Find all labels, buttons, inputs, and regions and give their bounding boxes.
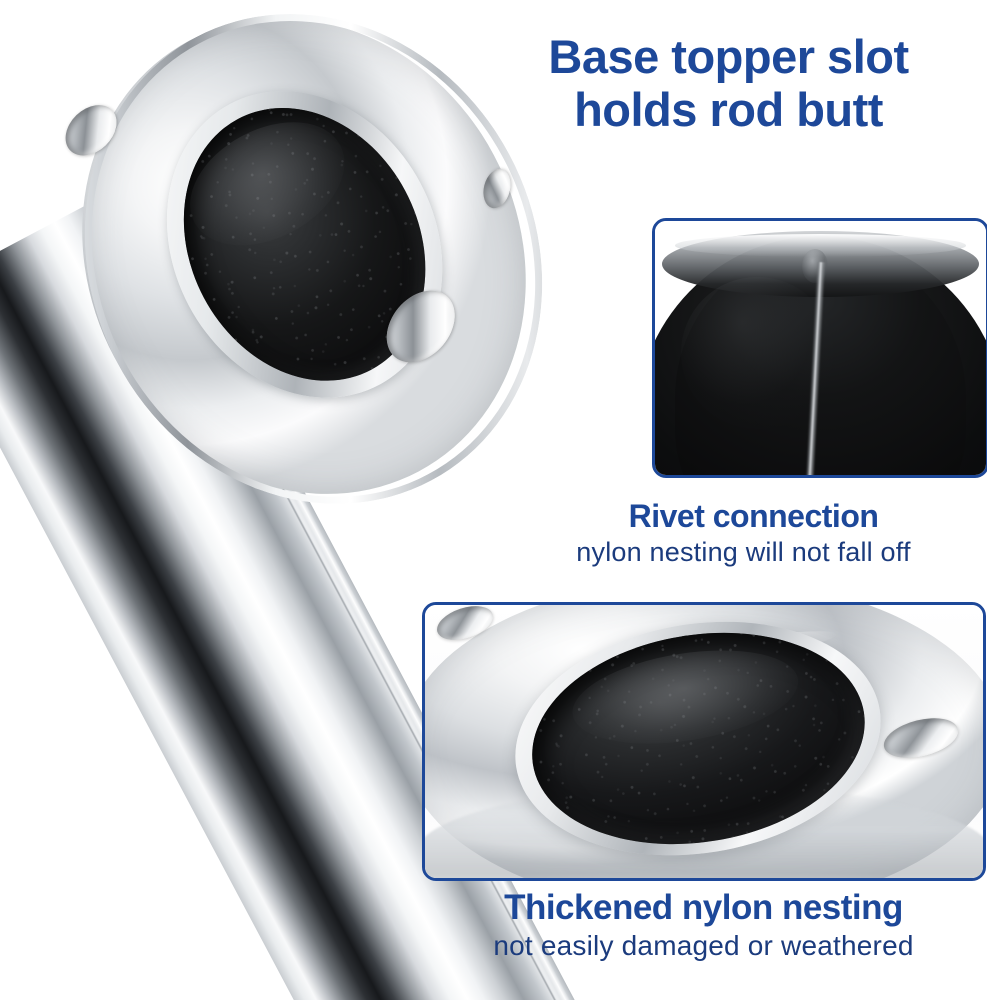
nylon-subline: not easily damaged or weathered <box>420 930 987 962</box>
rivet-subline: nylon nesting will not fall off <box>500 537 987 568</box>
main-headline-line-1: Base topper slot <box>470 30 987 83</box>
inset-photo-rivet <box>652 218 987 478</box>
rivet-scene <box>655 221 986 475</box>
nylon-scene <box>425 605 983 878</box>
nylon-headline: Thickened nylon nesting <box>420 888 987 928</box>
rivet-headline: Rivet connection <box>520 498 987 534</box>
main-headline: Base topper slot holds rod butt <box>470 30 987 136</box>
inset-photo-nylon <box>422 602 986 881</box>
infographic-canvas: Base topper slot holds rod butt Rivet co… <box>0 0 987 1000</box>
main-headline-line-2: holds rod butt <box>470 83 987 136</box>
